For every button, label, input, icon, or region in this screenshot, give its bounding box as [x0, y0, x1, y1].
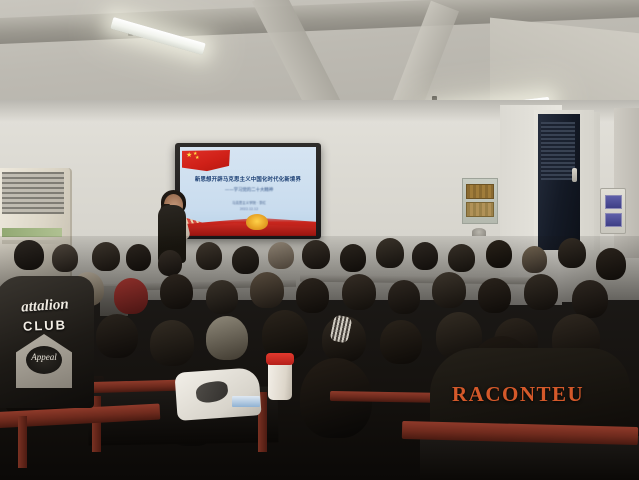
audience-head: [524, 274, 558, 310]
jacket-brand-text: RACONTEU: [452, 382, 622, 407]
audience-head: [448, 244, 475, 272]
audience-head: [296, 278, 329, 313]
slide-presenter: 马克思主义学院 · 李红: [206, 200, 292, 205]
door-handle[interactable]: [572, 168, 577, 182]
audience-head: [206, 316, 248, 360]
audience-head: [150, 320, 194, 366]
jacket-emblem-text: Appeal: [26, 352, 62, 362]
audience-head: [342, 274, 376, 310]
audience-head: [572, 280, 608, 318]
audience-head: [52, 244, 78, 272]
audience-head: [232, 246, 259, 274]
blue-card[interactable]: [232, 396, 260, 407]
slide-date: 2022.12.12: [206, 207, 292, 211]
slide-title: 新思想开辟马克思主义中国化时代化新境界: [186, 175, 310, 183]
wall-plaque: [466, 202, 494, 217]
audience-head: [126, 244, 151, 271]
audience-head: [522, 246, 547, 273]
audience-head: [96, 314, 138, 358]
air-vent-grille-icon: [2, 172, 64, 214]
thermos-lid[interactable]: [266, 353, 294, 365]
audience-head: [380, 320, 422, 364]
bench-leg: [18, 416, 27, 468]
audience-head: [478, 278, 511, 313]
slide-subtitle: ——学习党的二十大精神: [196, 187, 302, 193]
audience-head: [596, 248, 626, 280]
wall-plaque: [466, 184, 494, 199]
flag-star-icon: ★: [195, 156, 199, 161]
lecture-hall-photo: ★ ★ ★ 新思想开辟马克思主义中国化时代化新境界 ——学习党的二十大精神 马克…: [0, 0, 639, 480]
audience-head: [432, 272, 466, 308]
audience-head: [250, 272, 284, 308]
light-switch-icon[interactable]: [605, 195, 622, 209]
audience-head: [92, 242, 120, 271]
audience-head: [160, 274, 193, 309]
audience-head: [376, 238, 404, 268]
door-grille-icon: [541, 122, 575, 180]
audience-head: [268, 242, 294, 269]
audience-head: [114, 278, 148, 314]
jacket-club-text: CLUB: [6, 317, 84, 335]
flag-star-icon: ★: [186, 153, 192, 158]
audience-head: [388, 280, 420, 314]
audience-head: [412, 242, 438, 270]
audience-head: [14, 240, 44, 270]
audience-head: [486, 240, 512, 268]
audience-head: [158, 250, 182, 276]
audience-head: [340, 244, 366, 272]
audience-head: [558, 238, 586, 268]
light-switch-icon[interactable]: [605, 213, 622, 227]
audience-head: [196, 242, 222, 270]
audience-head: [206, 280, 238, 314]
audience-head: [302, 240, 330, 269]
